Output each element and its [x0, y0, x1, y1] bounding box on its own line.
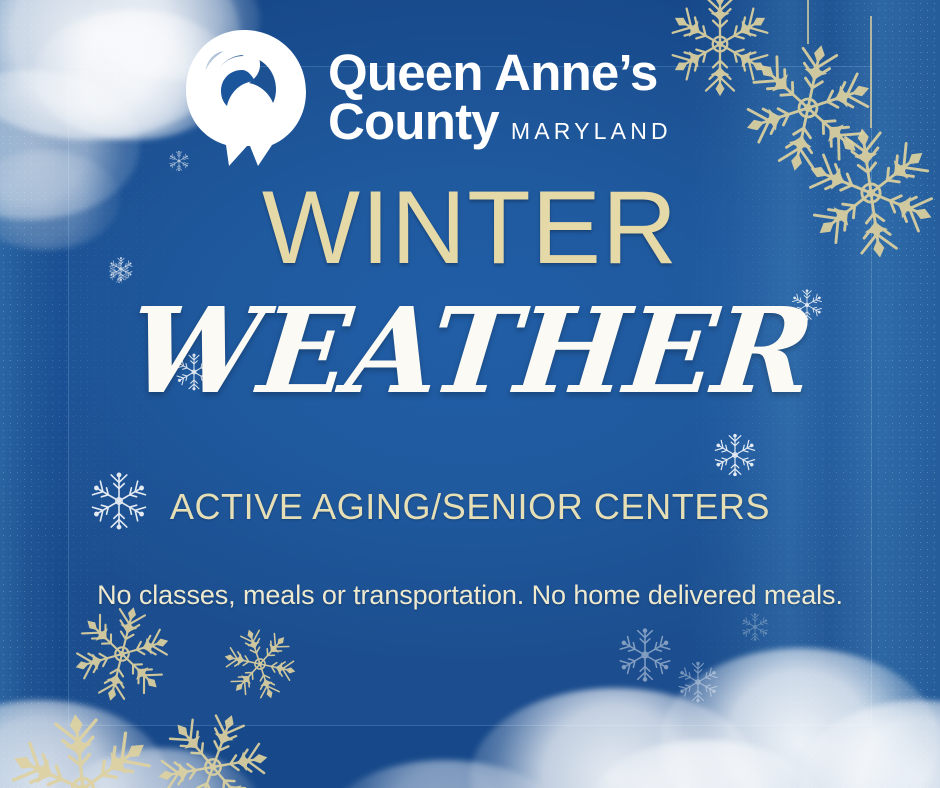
logo-state-label: MARYLAND [511, 120, 672, 142]
county-logo: Queen Anne’s County MARYLAND [182, 28, 672, 168]
subhead-active-aging-senior-centers: ACTIVE AGING/SENIOR CENTERS [120, 484, 820, 529]
logo-line-queen-annes: Queen Anne’s [328, 49, 672, 98]
headline-winter: WINTER [0, 176, 940, 280]
logo-line-county: County [328, 98, 499, 147]
headline-weather-script: WEATHER [0, 292, 940, 410]
queen-annes-county-q-wave-logo-icon [182, 28, 310, 168]
logo-wordmark: Queen Anne’s County MARYLAND [328, 49, 672, 147]
closure-note: No classes, meals or transportation. No … [40, 580, 900, 611]
winter-weather-poster: Queen Anne’s County MARYLAND WINTER WEAT… [0, 0, 940, 788]
